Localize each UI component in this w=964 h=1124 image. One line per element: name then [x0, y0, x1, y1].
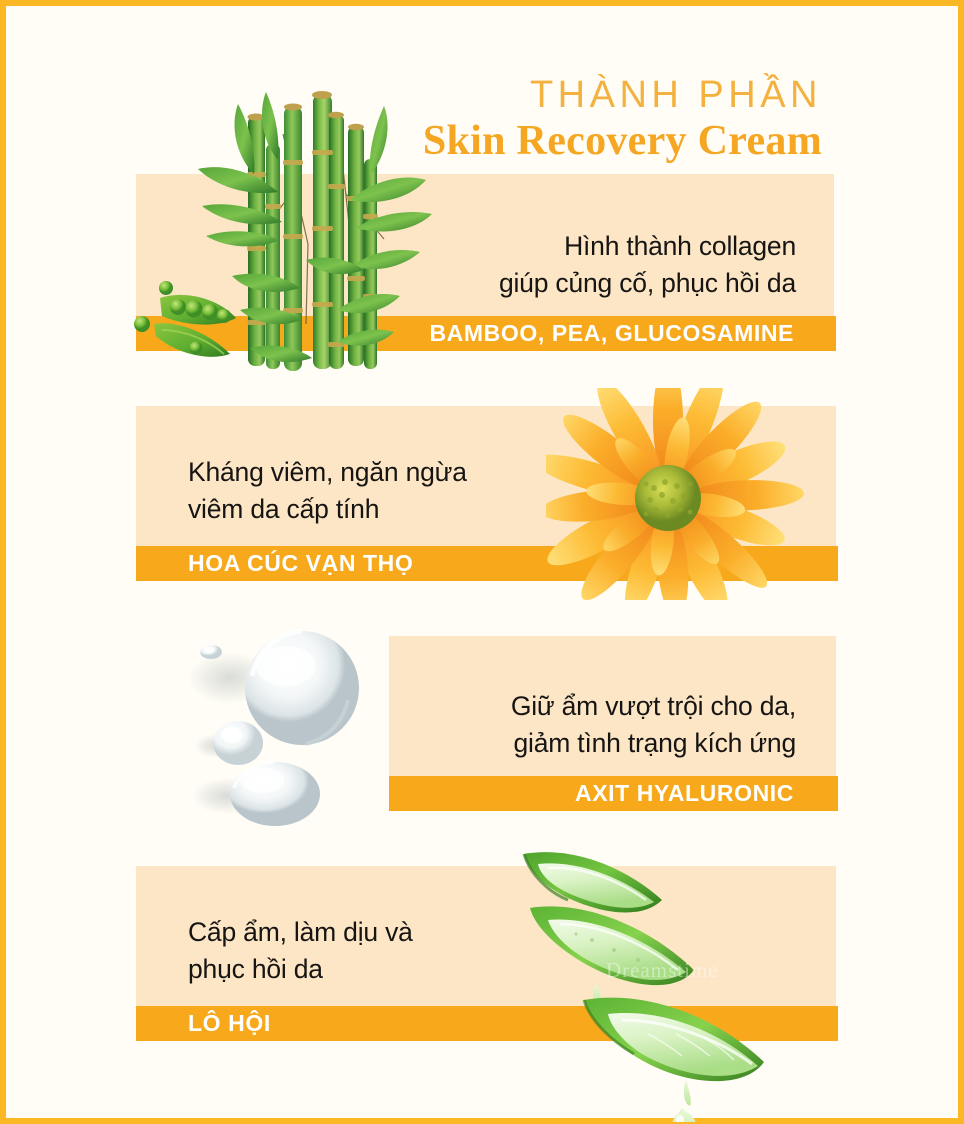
- ingredient-card-bamboo: Hình thành collagen giúp củng cố, phục h…: [136, 174, 834, 351]
- card-description: Kháng viêm, ngăn ngừa viêm da cấp tính: [188, 454, 467, 527]
- title-primary: THÀNH PHẦN: [402, 76, 822, 116]
- card-label-hyaluronic: AXIT HYALURONIC: [389, 776, 838, 811]
- card-description: Giữ ẩm vượt trội cho da, giảm tình trạng…: [511, 688, 796, 761]
- ingredient-card-marigold: Kháng viêm, ngăn ngừa viêm da cấp tính H…: [136, 406, 836, 581]
- card-label-aloe: LÔ HỘI: [136, 1006, 838, 1041]
- poster-frame: THÀNH PHẦN Skin Recovery Cream Hình thàn…: [0, 0, 964, 1124]
- card-description: Hình thành collagen giúp củng cố, phục h…: [499, 228, 796, 301]
- ingredient-card-hyaluronic: Giữ ẩm vượt trội cho da, giảm tình trạng…: [389, 636, 836, 811]
- card-description: Cấp ẩm, làm dịu và phục hồi da: [188, 914, 413, 987]
- card-label-bamboo: BAMBOO, PEA, GLUCOSAMINE: [136, 316, 836, 351]
- page-title: THÀNH PHẦN Skin Recovery Cream: [402, 76, 822, 165]
- card-label-marigold: HOA CÚC VẠN THỌ: [136, 546, 838, 581]
- water-droplets-illustration: [182, 628, 372, 828]
- ingredient-card-aloe: Cấp ẩm, làm dịu và phục hồi da LÔ HỘI: [136, 866, 836, 1041]
- title-secondary: Skin Recovery Cream: [402, 118, 822, 165]
